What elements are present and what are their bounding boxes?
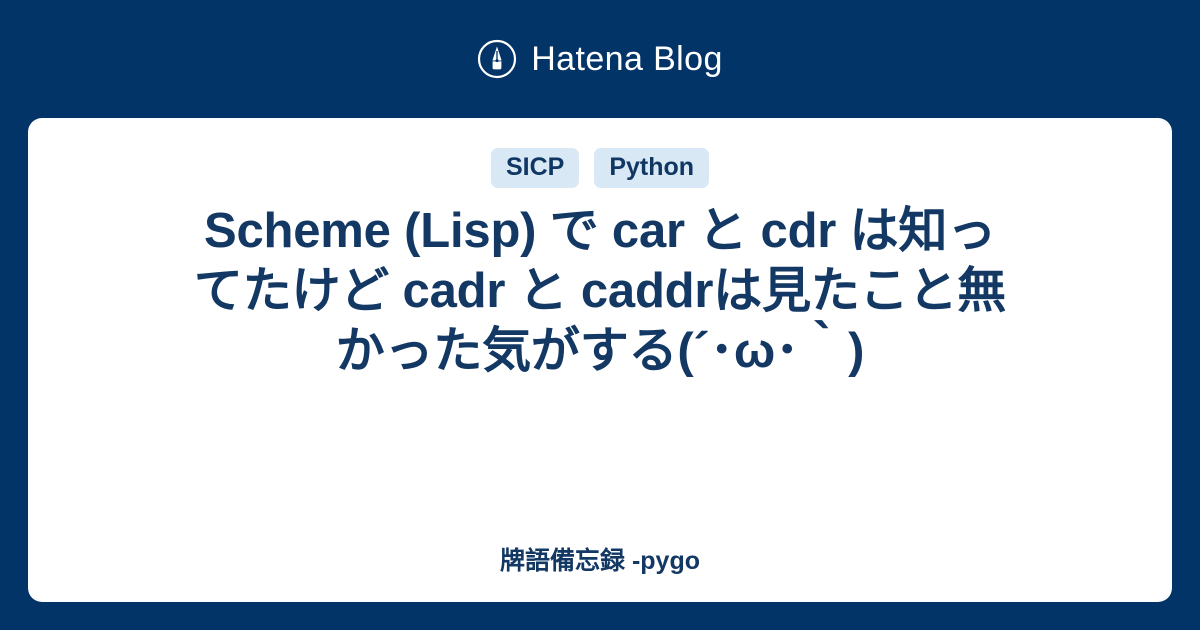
hatena-pen-nib-icon [477,39,517,79]
site-header: Hatena Blog [0,0,1200,118]
brand-name-label: Hatena Blog [531,42,723,76]
entry-title: Scheme (Lisp) で car と cdr は知ってたけど cadr と… [185,202,1015,381]
tag-sicp[interactable]: SICP [491,148,579,188]
hatena-blog-brand[interactable]: Hatena Blog [477,39,723,79]
blog-name[interactable]: 牌語備忘録 -pygo [500,528,700,576]
tag-python[interactable]: Python [594,148,709,188]
entry-card: SICP Python Scheme (Lisp) で car と cdr は知… [28,118,1172,602]
tag-list: SICP Python [491,148,709,188]
